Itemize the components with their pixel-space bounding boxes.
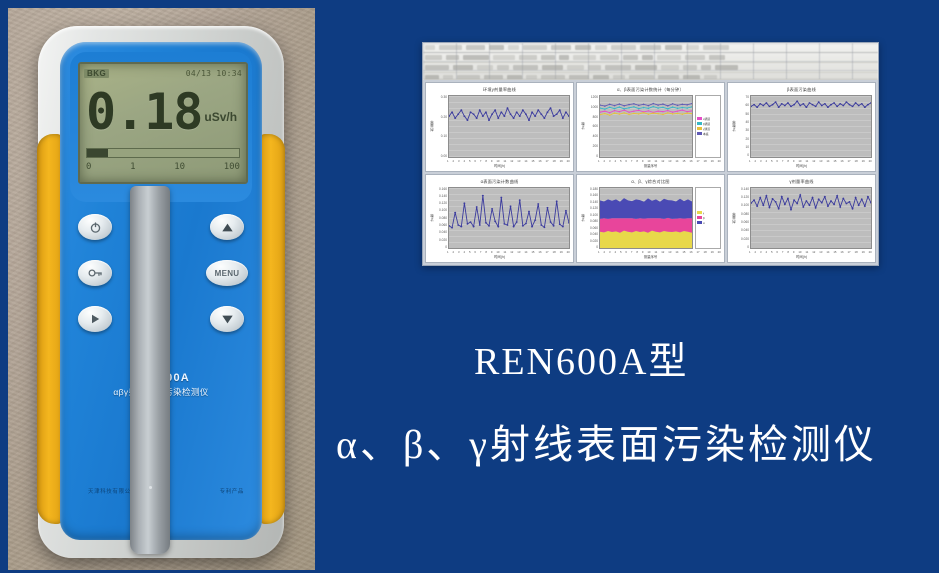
chart-data-point bbox=[686, 112, 687, 114]
spreadsheet-cell bbox=[623, 55, 638, 60]
spreadsheet-cell bbox=[683, 65, 697, 70]
spreadsheet-cell bbox=[588, 65, 601, 70]
chart-data-point bbox=[609, 104, 610, 106]
chart-data-point bbox=[528, 119, 530, 121]
chart-data-point bbox=[643, 107, 644, 109]
chart-data-point bbox=[833, 203, 835, 205]
chart-data-point bbox=[550, 221, 552, 223]
chart-title: α表面污染计数曲线 bbox=[426, 175, 573, 185]
spreadsheet-cell bbox=[541, 55, 555, 60]
chart-y-tick: 20 bbox=[736, 137, 749, 141]
chart-y-ticks: 0.1600.1400.1200.1000.0800.0600.0400.020… bbox=[434, 187, 448, 250]
chart-y-tick: 1200 bbox=[585, 95, 598, 99]
chart-plot-area bbox=[599, 187, 693, 250]
legend-label: β通道 bbox=[703, 122, 710, 126]
legend-swatch bbox=[697, 122, 702, 125]
chart-data-point bbox=[537, 203, 539, 205]
chart-data-point bbox=[653, 103, 654, 105]
spreadsheet-cell bbox=[508, 45, 519, 50]
chart-data-point bbox=[682, 104, 683, 106]
chart-panel-5[interactable]: α、β、γ综合对比图计数0.1800.1600.1400.1200.1000.0… bbox=[576, 174, 725, 264]
spreadsheet-cell bbox=[519, 55, 537, 60]
chart-data-point bbox=[815, 207, 817, 209]
spreadsheet-cell bbox=[453, 65, 473, 70]
chart-x-axis-label: 测量序号 bbox=[577, 254, 724, 262]
chart-data-point bbox=[460, 109, 462, 111]
chart-data-point bbox=[451, 226, 453, 228]
chart-panel-1[interactable]: 环境γ剂量率曲线剂量率0.300.200.100.001234567891011… bbox=[425, 82, 574, 172]
chart-data-point bbox=[491, 207, 493, 209]
chart-data-point bbox=[565, 111, 567, 113]
chart-x-axis-label: 时间(h) bbox=[728, 254, 875, 262]
chart-data-point bbox=[638, 105, 639, 107]
chart-data-point bbox=[623, 112, 624, 114]
product-photo: BKG 04/13 10:34 0.18 uSv/h 0 1 10 100 bbox=[8, 8, 315, 570]
chart-legend-item[interactable]: β bbox=[697, 216, 719, 220]
chart-legend: γβα bbox=[695, 187, 721, 250]
chart-data-point bbox=[534, 219, 536, 221]
chart-data-point bbox=[805, 200, 807, 202]
chart-data-point bbox=[802, 206, 804, 208]
chart-data-point bbox=[802, 103, 804, 105]
chart-title: γ剂量率曲线 bbox=[728, 175, 875, 185]
chart-data-point bbox=[849, 104, 851, 106]
chart-data-point bbox=[547, 206, 549, 208]
chart-data-point bbox=[781, 195, 783, 197]
chart-y-ticks: 0.300.200.100.00 bbox=[434, 95, 448, 158]
spreadsheet-cell bbox=[715, 65, 738, 70]
chart-data-point bbox=[781, 103, 783, 105]
lcd-mode-badge: BKG bbox=[84, 69, 109, 78]
chart-body: 计数0.1600.1400.1200.1000.0800.0600.0400.0… bbox=[426, 185, 573, 251]
chart-data-point bbox=[494, 220, 496, 222]
chart-data-point bbox=[516, 221, 518, 223]
chart-data-point bbox=[839, 103, 841, 105]
chart-data-point bbox=[691, 110, 692, 112]
menu-button[interactable]: MENU bbox=[206, 260, 248, 286]
play-button[interactable] bbox=[78, 306, 112, 332]
down-button[interactable] bbox=[210, 306, 244, 332]
legend-label: α通道 bbox=[703, 117, 710, 121]
chart-x-axis-label: 测量序号 bbox=[577, 163, 724, 171]
device-footer-right: 专利产品 bbox=[220, 487, 244, 495]
lcd-unit: uSv/h bbox=[204, 110, 237, 124]
chart-data-point bbox=[516, 111, 518, 113]
spreadsheet-cell bbox=[523, 45, 547, 50]
spreadsheet-cell bbox=[567, 65, 584, 70]
chart-y-tick: 70 bbox=[736, 95, 749, 99]
chart-body: 计数0.1800.1600.1400.1200.1000.0800.0600.0… bbox=[577, 185, 724, 251]
chart-data-point bbox=[491, 113, 493, 115]
chart-data-point bbox=[824, 103, 826, 105]
chart-data-point bbox=[686, 107, 687, 109]
spreadsheet-cell bbox=[463, 55, 489, 60]
chart-data-point bbox=[510, 113, 512, 115]
chart-data-point bbox=[556, 200, 558, 202]
chart-data-point bbox=[604, 108, 605, 110]
chart-data-point bbox=[463, 202, 465, 204]
chart-y-tick: 40 bbox=[736, 120, 749, 124]
chart-y-tick: 0.10 bbox=[434, 134, 447, 138]
chart-plot-area bbox=[448, 95, 570, 158]
menu-button-label: MENU bbox=[215, 269, 240, 278]
chart-data-point bbox=[667, 112, 668, 114]
chart-data-point bbox=[842, 197, 844, 199]
chart-data-point bbox=[793, 199, 795, 201]
chart-data-point bbox=[553, 225, 555, 227]
chart-data-point bbox=[633, 110, 634, 112]
chart-data-point bbox=[488, 225, 490, 227]
chart-data-point bbox=[614, 105, 615, 107]
chart-data-point bbox=[686, 111, 687, 113]
spreadsheet-cell bbox=[611, 45, 636, 50]
chart-body: 计数率706050403020100 bbox=[728, 93, 875, 159]
lcd-reading: 0.18 uSv/h bbox=[86, 81, 242, 143]
chart-data-point bbox=[672, 113, 673, 115]
chart-area-α bbox=[600, 198, 692, 219]
device-handle-strap bbox=[130, 186, 170, 554]
chart-y-tick: 400 bbox=[585, 134, 598, 138]
chart-data-point bbox=[510, 205, 512, 207]
lcd-scale-tick: 10 bbox=[174, 162, 185, 172]
spreadsheet-cell bbox=[513, 65, 538, 70]
chart-data-point bbox=[494, 109, 496, 111]
chart-y-tick: 0.020 bbox=[736, 237, 749, 241]
chart-data-point bbox=[463, 115, 465, 117]
chart-data-point bbox=[759, 196, 761, 198]
chart-data-point bbox=[638, 113, 639, 115]
spreadsheet-cell bbox=[551, 45, 571, 50]
chart-data-point bbox=[790, 106, 792, 108]
chart-plot-area bbox=[750, 187, 872, 250]
chart-y-tick: 0.100 bbox=[585, 213, 598, 217]
chart-y-tick: 0.140 bbox=[736, 187, 749, 191]
chart-data-point bbox=[772, 104, 774, 106]
chart-data-point bbox=[762, 204, 764, 206]
chart-y-tick: 0 bbox=[736, 153, 749, 157]
chart-data-point bbox=[638, 108, 639, 110]
chart-data-point bbox=[821, 201, 823, 203]
chart-data-point bbox=[643, 104, 644, 106]
chart-y-tick: 0.020 bbox=[434, 238, 447, 242]
lcd-scale: 0 1 10 100 bbox=[86, 159, 240, 175]
spreadsheet-cell bbox=[635, 65, 657, 70]
chart-data-point bbox=[784, 203, 786, 205]
legend-swatch bbox=[697, 127, 702, 130]
spreadsheet-cell bbox=[605, 65, 631, 70]
chart-data-point bbox=[648, 110, 649, 112]
chart-y-tick: 0.120 bbox=[434, 201, 447, 205]
chart-data-point bbox=[855, 102, 857, 104]
play-icon bbox=[89, 313, 101, 325]
chart-y-tick: 0.30 bbox=[434, 95, 447, 99]
chart-data-point bbox=[638, 110, 639, 112]
chart-data-point bbox=[765, 194, 767, 196]
chart-y-tick: 60 bbox=[736, 103, 749, 107]
chart-body: 剂量率0.300.200.100.00 bbox=[426, 93, 573, 159]
chart-data-point bbox=[682, 113, 683, 115]
chart-data-point bbox=[677, 108, 678, 110]
chart-data-point bbox=[565, 209, 567, 211]
spreadsheet-cell bbox=[439, 45, 462, 50]
chart-legend-item[interactable]: α bbox=[697, 221, 719, 225]
chart-data-point bbox=[809, 204, 811, 206]
chart-data-point bbox=[753, 199, 755, 201]
chart-data-point bbox=[633, 113, 634, 115]
chart-data-point bbox=[657, 104, 658, 106]
chart-data-point bbox=[503, 115, 505, 117]
chart-data-point bbox=[818, 101, 820, 103]
chart-y-tick: 0.160 bbox=[585, 193, 598, 197]
legend-swatch bbox=[697, 211, 702, 214]
chart-data-point bbox=[667, 110, 668, 112]
chart-data-point bbox=[473, 225, 475, 227]
chart-y-tick: 0.060 bbox=[585, 226, 598, 230]
chart-y-tick: 0 bbox=[585, 245, 598, 249]
legend-swatch bbox=[697, 132, 702, 135]
chart-data-point bbox=[476, 117, 478, 119]
chart-data-point bbox=[559, 223, 561, 225]
chart-x-axis-label: 时间(h) bbox=[426, 254, 573, 262]
power-button[interactable] bbox=[78, 214, 112, 240]
spreadsheet-cell bbox=[425, 55, 442, 60]
chart-x-axis-label: 时间(h) bbox=[426, 163, 573, 171]
spreadsheet-cell bbox=[477, 65, 493, 70]
chart-data-point bbox=[839, 206, 841, 208]
chart-area-γ bbox=[600, 230, 692, 248]
chart-y-ticks: 706050403020100 bbox=[736, 95, 750, 158]
chart-data-point bbox=[609, 112, 610, 114]
chart-data-point bbox=[522, 225, 524, 227]
chart-data-point bbox=[653, 112, 654, 114]
chart-data-point bbox=[845, 101, 847, 103]
chart-data-point bbox=[556, 113, 558, 115]
software-spreadsheet-toolbar bbox=[423, 43, 878, 80]
chart-plot-area bbox=[750, 95, 872, 158]
chart-data-point bbox=[842, 105, 844, 107]
chart-svg bbox=[751, 188, 871, 249]
chart-y-tick: 30 bbox=[736, 128, 749, 132]
spreadsheet-cell bbox=[600, 55, 619, 60]
legend-label: γ通道 bbox=[703, 127, 710, 131]
chart-data-point bbox=[830, 104, 832, 106]
chart-data-point bbox=[604, 110, 605, 112]
chart-data-point bbox=[799, 194, 801, 196]
spreadsheet-cell bbox=[703, 45, 729, 50]
spreadsheet-cell bbox=[542, 65, 563, 70]
chart-data-point bbox=[830, 200, 832, 202]
chart-data-point bbox=[821, 105, 823, 107]
chart-data-point bbox=[864, 106, 866, 108]
chart-y-tick: 800 bbox=[585, 115, 598, 119]
chart-data-point bbox=[476, 206, 478, 208]
lcd-screen: BKG 04/13 10:34 0.18 uSv/h 0 1 10 100 bbox=[78, 62, 248, 184]
chart-data-point bbox=[648, 108, 649, 110]
chart-data-point bbox=[562, 225, 564, 227]
chart-data-point bbox=[648, 105, 649, 107]
chart-data-point bbox=[619, 106, 620, 108]
chart-data-point bbox=[457, 113, 459, 115]
chart-y-ticks: 0.1800.1600.1400.1200.1000.0800.0600.040… bbox=[585, 187, 599, 250]
chart-data-point bbox=[867, 195, 869, 197]
chart-legend-item[interactable]: α通道 bbox=[697, 117, 719, 121]
chart-line-γ剂量率 bbox=[449, 108, 569, 120]
chart-y-tick: 0.00 bbox=[434, 154, 447, 158]
chart-data-point bbox=[470, 111, 472, 113]
chart-data-point bbox=[836, 106, 838, 108]
chart-data-point bbox=[753, 104, 755, 106]
legend-label: α bbox=[703, 221, 705, 225]
chart-legend-item[interactable]: γ bbox=[697, 211, 719, 215]
chart-data-point bbox=[628, 107, 629, 109]
chart-panel-2[interactable]: α、β表面污染计数统计（每分钟）计数120010008006004002000α… bbox=[576, 82, 725, 172]
spreadsheet-cell bbox=[595, 45, 607, 50]
chart-title: α、β表面污染计数统计（每分钟） bbox=[577, 83, 724, 93]
chart-data-point bbox=[614, 108, 615, 110]
chart-data-point bbox=[775, 101, 777, 103]
chart-data-point bbox=[691, 113, 692, 115]
device-grip-right bbox=[259, 134, 285, 524]
chart-y-ticks: 120010008006004002000 bbox=[585, 95, 599, 158]
chart-data-point bbox=[677, 110, 678, 112]
chart-data-point bbox=[657, 113, 658, 115]
chart-y-tick: 600 bbox=[585, 124, 598, 128]
chart-body: 计数120010008006004002000α通道β通道γ通道本底 bbox=[577, 93, 724, 159]
chart-data-point bbox=[525, 222, 527, 224]
chart-legend-item[interactable]: β通道 bbox=[697, 122, 719, 126]
chart-data-point bbox=[662, 111, 663, 113]
chart-title: β表面污染曲线 bbox=[728, 83, 875, 93]
chart-data-point bbox=[553, 115, 555, 117]
power-icon bbox=[89, 221, 102, 234]
spreadsheet-cell bbox=[573, 55, 596, 60]
lcd-bargraph bbox=[86, 148, 240, 158]
chart-data-point bbox=[633, 103, 634, 105]
chart-data-point bbox=[547, 111, 549, 113]
chart-y-tick: 50 bbox=[736, 112, 749, 116]
chart-y-tick: 0.040 bbox=[434, 230, 447, 234]
device-body: BKG 04/13 10:34 0.18 uSv/h 0 1 10 100 bbox=[38, 26, 284, 558]
chart-panel-4[interactable]: α表面污染计数曲线计数0.1600.1400.1200.1000.0800.06… bbox=[425, 174, 574, 264]
chart-data-point bbox=[672, 103, 673, 105]
chart-data-point bbox=[470, 221, 472, 223]
chart-data-point bbox=[619, 111, 620, 113]
chart-body: 剂量率0.1400.1200.1000.0800.0600.0400.0200 bbox=[728, 185, 875, 251]
chart-y-axis-label: 计数 bbox=[579, 187, 585, 250]
chart-y-axis-label: 计数率 bbox=[730, 95, 736, 158]
chart-data-point bbox=[540, 113, 542, 115]
chart-y-tick: 0.080 bbox=[585, 219, 598, 223]
chart-y-axis-label: 剂量率 bbox=[730, 187, 736, 250]
spreadsheet-cell bbox=[489, 45, 504, 50]
chart-data-point bbox=[451, 111, 453, 113]
chart-data-point bbox=[864, 205, 866, 207]
chart-data-point bbox=[568, 221, 569, 223]
chart-data-point bbox=[855, 196, 857, 198]
chart-data-point bbox=[513, 117, 515, 119]
chart-data-point bbox=[762, 105, 764, 107]
chart-data-point bbox=[790, 208, 792, 210]
spreadsheet-cell bbox=[446, 55, 459, 60]
triangle-up-icon bbox=[221, 222, 234, 233]
up-button[interactable] bbox=[210, 214, 244, 240]
chart-data-point bbox=[778, 106, 780, 108]
chart-data-point bbox=[619, 113, 620, 115]
chart-grid: 环境γ剂量率曲线剂量率0.300.200.100.001234567891011… bbox=[423, 80, 878, 265]
chart-y-tick: 0.080 bbox=[434, 216, 447, 220]
headline-model: REN600A型 bbox=[474, 330, 904, 385]
chart-data-point bbox=[787, 102, 789, 104]
chart-data-point bbox=[796, 202, 798, 204]
chart-data-point bbox=[861, 103, 863, 105]
chart-data-point bbox=[519, 115, 521, 117]
lcd-status-bar: BKG 04/13 10:34 bbox=[84, 67, 242, 80]
chart-title: 环境γ剂量率曲线 bbox=[426, 83, 573, 93]
chart-data-point bbox=[812, 196, 814, 198]
chart-data-point bbox=[818, 198, 820, 200]
spreadsheet-cell bbox=[559, 55, 569, 60]
chart-data-point bbox=[623, 105, 624, 107]
chart-legend-item[interactable]: 本底 bbox=[697, 132, 719, 136]
search-button[interactable] bbox=[78, 260, 112, 286]
chart-data-point bbox=[772, 197, 774, 199]
chart-data-point bbox=[787, 197, 789, 199]
chart-svg bbox=[751, 96, 871, 157]
chart-data-point bbox=[457, 224, 459, 226]
chart-data-point bbox=[528, 210, 530, 212]
chart-data-point bbox=[778, 207, 780, 209]
chart-y-tick: 200 bbox=[585, 144, 598, 148]
chart-data-point bbox=[488, 119, 490, 121]
chart-data-point bbox=[466, 223, 468, 225]
chart-legend-item[interactable]: γ通道 bbox=[697, 127, 719, 131]
chart-data-point bbox=[852, 106, 854, 108]
chart-data-point bbox=[497, 225, 499, 227]
chart-panel-3[interactable]: β表面污染曲线计数率706050403020100123456789101112… bbox=[727, 82, 876, 172]
chart-y-axis-label: 计数 bbox=[579, 95, 585, 158]
spreadsheet-cell bbox=[657, 55, 681, 60]
spreadsheet-cell bbox=[575, 45, 591, 50]
chart-data-point bbox=[614, 110, 615, 112]
chart-data-point bbox=[531, 225, 533, 227]
chart-data-point bbox=[799, 105, 801, 107]
chart-data-point bbox=[827, 106, 829, 108]
chart-data-point bbox=[824, 195, 826, 197]
software-screenshot: 环境γ剂量率曲线剂量率0.300.200.100.001234567891011… bbox=[422, 42, 879, 266]
chart-data-point bbox=[525, 113, 527, 115]
chart-data-point bbox=[500, 111, 502, 113]
spreadsheet-cell bbox=[709, 55, 725, 60]
lcd-scale-tick: 1 bbox=[130, 162, 135, 172]
chart-data-point bbox=[759, 103, 761, 105]
chart-line-α计数 bbox=[449, 195, 569, 227]
chart-data-point bbox=[657, 107, 658, 109]
chart-data-point bbox=[531, 111, 533, 113]
chart-data-point bbox=[604, 113, 605, 115]
lcd-datetime: 04/13 10:34 bbox=[186, 69, 242, 78]
chart-y-tick: 0 bbox=[585, 154, 598, 158]
chart-data-point bbox=[867, 104, 869, 106]
chart-data-point bbox=[507, 107, 509, 109]
chart-data-point bbox=[662, 103, 663, 105]
chart-data-point bbox=[768, 106, 770, 108]
chart-data-point bbox=[485, 221, 487, 223]
chart-panel-6[interactable]: γ剂量率曲线剂量率0.1400.1200.1000.0800.0600.0400… bbox=[727, 174, 876, 264]
chart-y-tick: 0.060 bbox=[736, 220, 749, 224]
chart-data-point bbox=[793, 104, 795, 106]
chart-data-point bbox=[870, 201, 871, 203]
chart-data-point bbox=[815, 106, 817, 108]
